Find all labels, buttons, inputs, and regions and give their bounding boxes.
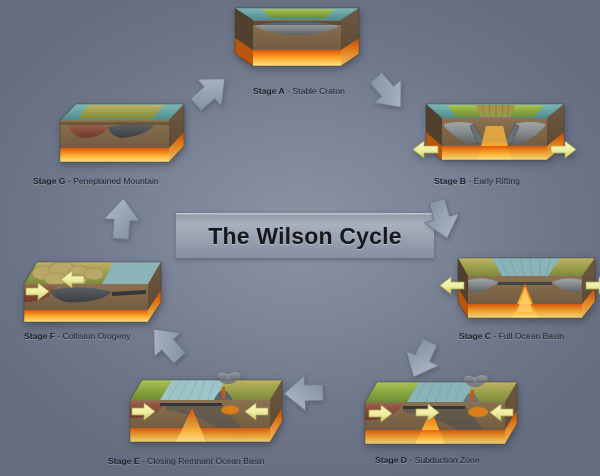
stage-c-block [440, 250, 600, 330]
stage-b-label: Stage B - Early Rifting [434, 176, 520, 186]
stage-e-id: Stage E [108, 456, 140, 466]
stage-g-id: Stage G [33, 176, 65, 186]
flow-arrow-c-to-d [400, 338, 444, 380]
stage-b-desc: - Early Rifting [466, 176, 520, 186]
stage-g-label: Stage G - Peneplained Mountain [33, 176, 159, 186]
flow-arrow-e-to-f [144, 322, 190, 366]
stage-b-id: Stage B [434, 176, 466, 186]
stage-f-label: Stage F - Collision Orogeny [24, 331, 131, 341]
stage-a-id: Stage A [253, 86, 285, 96]
stage-g-block [36, 96, 191, 176]
wilson-cycle-diagram: The Wilson Cycle Stage A - Stable Craton [0, 0, 600, 476]
flow-arrow-g-to-a [188, 71, 232, 113]
stage-a-label: Stage A - Stable Craton [253, 86, 345, 96]
stage-g-desc: - Peneplained Mountain [65, 176, 158, 186]
flow-arrow-a-to-b [366, 71, 410, 113]
diagram-title-plate: The Wilson Cycle [176, 213, 434, 259]
stage-c-label: Stage C - Full Ocean Basin [459, 331, 564, 341]
stage-f-block [6, 246, 166, 330]
flow-arrow-b-to-c [420, 198, 464, 240]
page-title: The Wilson Cycle [208, 223, 401, 250]
stage-e-label: Stage E - Closing Remnant Ocean Basin [108, 456, 265, 466]
stage-c-desc: - Full Ocean Basin [491, 331, 564, 341]
stage-d-desc: - Subduction Zone [407, 455, 480, 465]
stage-b-block [412, 96, 577, 174]
stage-f-desc: - Collision Orogeny [55, 331, 130, 341]
stage-a-block [231, 4, 363, 80]
flow-arrow-f-to-g [100, 196, 144, 242]
stage-f-id: Stage F [24, 331, 55, 341]
stage-a-desc: - Stable Craton [285, 86, 345, 96]
stage-d-label: Stage D - Subduction Zone [375, 455, 480, 465]
stage-e-block [110, 364, 292, 448]
stage-d-id: Stage D [375, 455, 407, 465]
flow-arrow-d-to-e [281, 372, 327, 414]
stage-e-desc: - Closing Remnant Ocean Basin [140, 456, 265, 466]
stage-d-block [345, 368, 527, 452]
stage-c-id: Stage C [459, 331, 491, 341]
